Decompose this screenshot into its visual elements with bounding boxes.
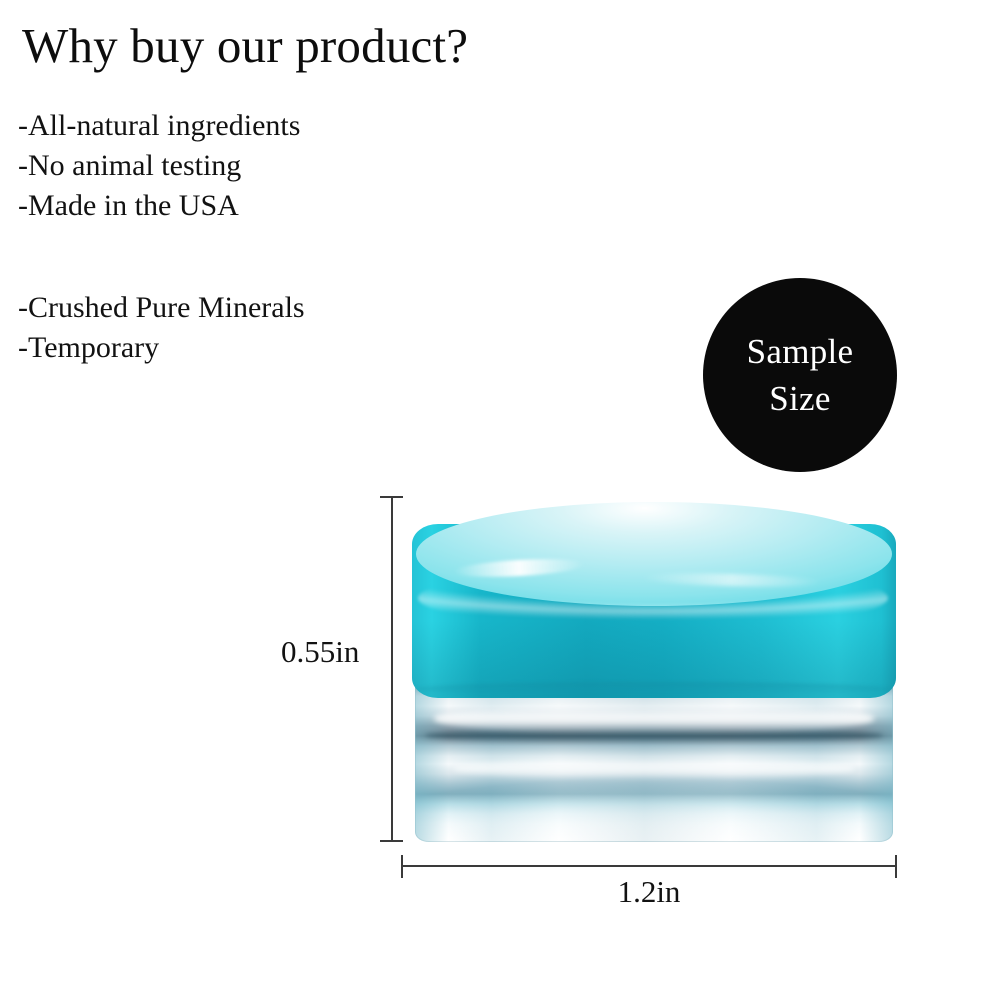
height-dimension-cap-bottom xyxy=(380,840,403,842)
product-image-sample-jar xyxy=(412,502,896,842)
width-dimension-line xyxy=(402,865,896,867)
jar-lid xyxy=(412,502,896,698)
benefits-list-primary: -All-natural ingredients -No animal test… xyxy=(18,106,300,226)
list-item: -All-natural ingredients xyxy=(18,106,300,146)
list-item: -Temporary xyxy=(18,328,305,368)
list-item: -Crushed Pure Minerals xyxy=(18,288,305,328)
width-dimension-label: 1.2in xyxy=(402,874,896,910)
height-dimension-line xyxy=(391,496,393,842)
page-title: Why buy our product? xyxy=(22,20,468,71)
badge-label-line-1: Sample xyxy=(747,328,854,375)
jar-glass-highlight-upper xyxy=(434,703,874,733)
badge-label-line-2: Size xyxy=(769,375,830,422)
height-dimension-label: 0.55in xyxy=(281,634,359,670)
list-item: -No animal testing xyxy=(18,146,300,186)
benefits-list-secondary: -Crushed Pure Minerals -Temporary xyxy=(18,288,305,368)
product-infographic: Why buy our product? -All-natural ingred… xyxy=(0,0,1000,1000)
jar-lid-seam xyxy=(416,682,892,696)
status-badge: Sample Size xyxy=(703,278,897,472)
height-dimension-cap-top xyxy=(380,496,403,498)
list-item: -Made in the USA xyxy=(18,186,300,226)
